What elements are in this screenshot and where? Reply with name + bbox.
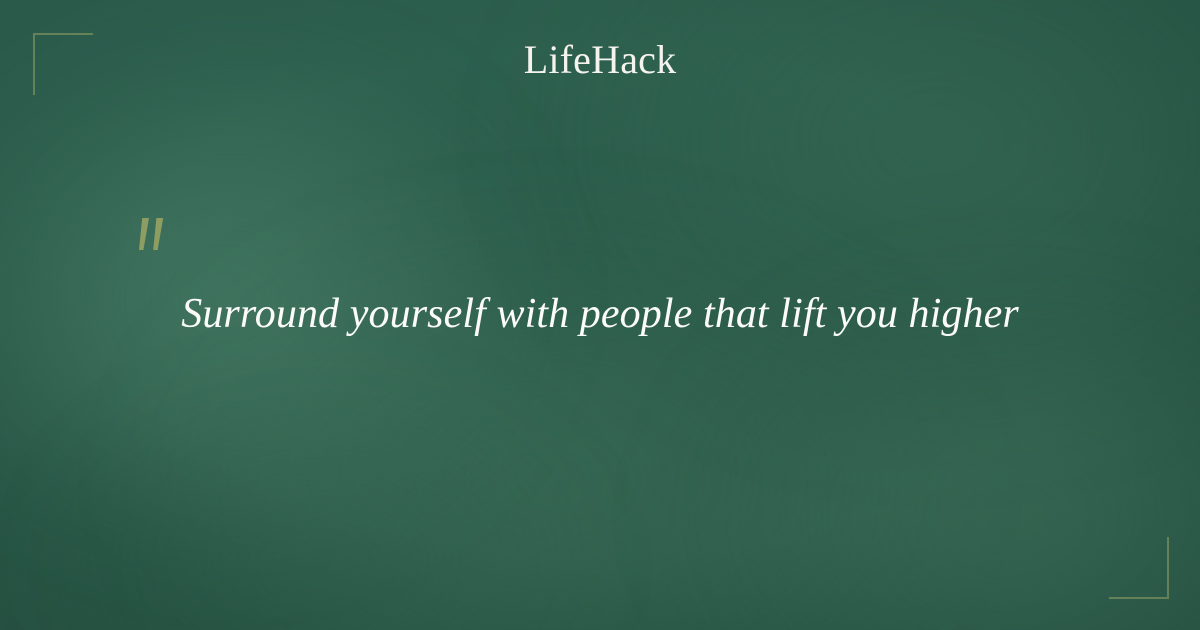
quote-card: LifeHack Surround yourself with people t… (0, 0, 1200, 630)
corner-bracket-bottom-right-icon (1109, 537, 1169, 599)
quotation-mark-icon (128, 216, 182, 272)
quote-text: Surround yourself with people that lift … (0, 289, 1200, 339)
card-content: LifeHack Surround yourself with people t… (0, 0, 1200, 630)
brand-logo: LifeHack (0, 40, 1200, 80)
